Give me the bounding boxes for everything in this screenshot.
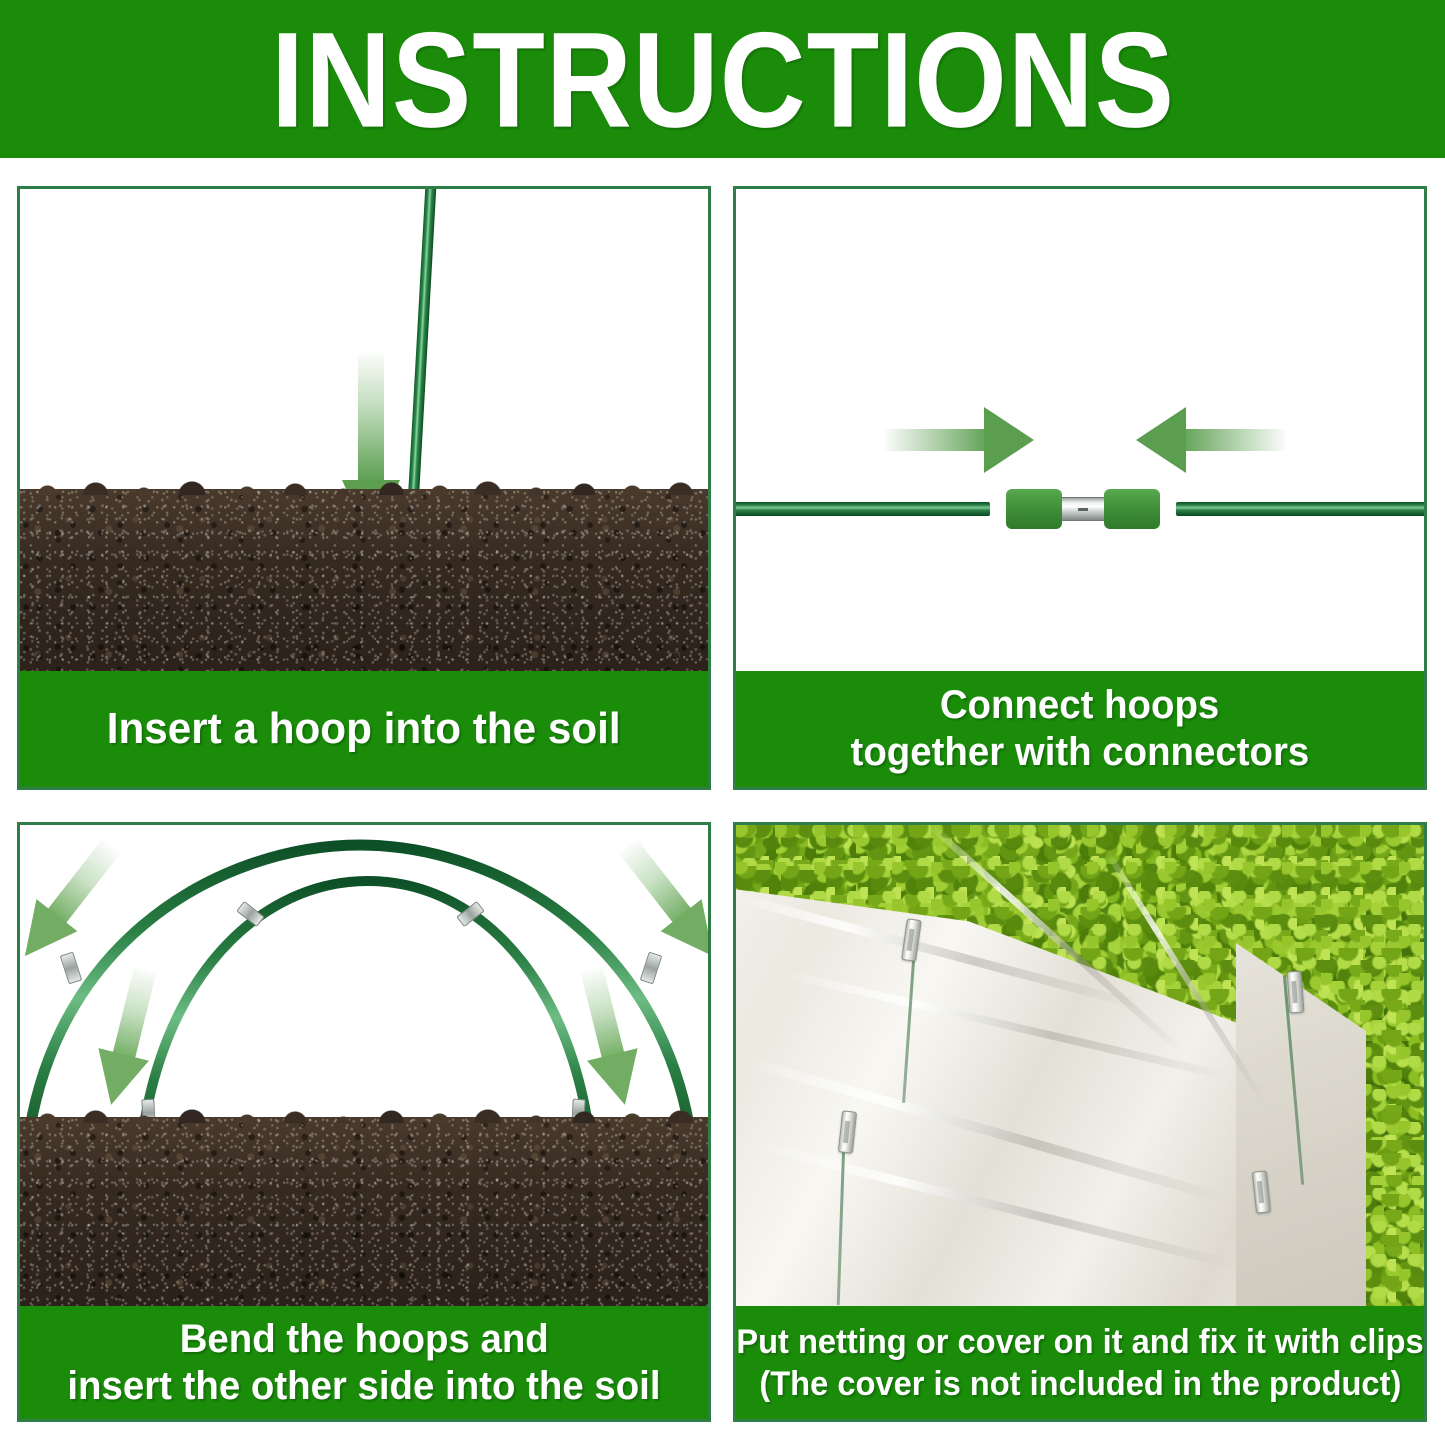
left-rod-icon — [736, 502, 990, 516]
caption-line: insert the other side into the soil — [67, 1363, 660, 1410]
caption-line: Insert a hoop into the soil — [107, 705, 621, 753]
caption-line: Bend the hoops and — [179, 1316, 548, 1363]
soil-surface-texture — [20, 469, 708, 495]
connector-piece-icon — [1006, 489, 1160, 529]
soil-bed — [20, 489, 708, 676]
connector-cap-left — [1006, 489, 1062, 529]
illustration-bend-hoops — [20, 825, 708, 1306]
panel-bend-hoops: Bend the hoops and insert the other side… — [17, 822, 711, 1422]
soil-surface-texture — [20, 1097, 708, 1123]
panel-insert-hoop: Insert a hoop into the soil — [17, 186, 711, 790]
left-arrow-icon — [1136, 407, 1286, 473]
illustration-insert-hoop — [20, 189, 708, 676]
illustration-connect-hoops — [736, 189, 1424, 676]
instructions-page: INSTRUCTIONS Insert a hoop into the soil — [0, 0, 1445, 1429]
soil-bed — [20, 1117, 708, 1306]
caption-line: (The cover is not included in the produc… — [759, 1363, 1401, 1405]
caption-line: together with connectors — [851, 729, 1310, 776]
panel-connect-hoops: Connect hoops together with connectors — [733, 186, 1427, 790]
connector-metal-tube — [1062, 497, 1104, 521]
caption-insert-hoop: Insert a hoop into the soil — [20, 671, 708, 787]
page-title: INSTRUCTIONS — [271, 13, 1175, 149]
header-banner: INSTRUCTIONS — [0, 0, 1445, 158]
photo-covered-tunnel — [736, 825, 1424, 1312]
caption-connect-hoops: Connect hoops together with connectors — [736, 671, 1424, 787]
right-arrow-icon — [884, 407, 1034, 473]
right-rod-icon — [1176, 502, 1424, 516]
caption-cover-and-clips: Put netting or cover on it and fix it wi… — [736, 1306, 1424, 1419]
cover-clip-icon — [1287, 971, 1305, 1014]
caption-bend-hoops: Bend the hoops and insert the other side… — [20, 1306, 708, 1419]
caption-line: Put netting or cover on it and fix it wi… — [736, 1321, 1423, 1363]
connector-cap-right — [1104, 489, 1160, 529]
caption-line: Connect hoops — [940, 682, 1219, 729]
panel-cover-and-clips: Put netting or cover on it and fix it wi… — [733, 822, 1427, 1422]
